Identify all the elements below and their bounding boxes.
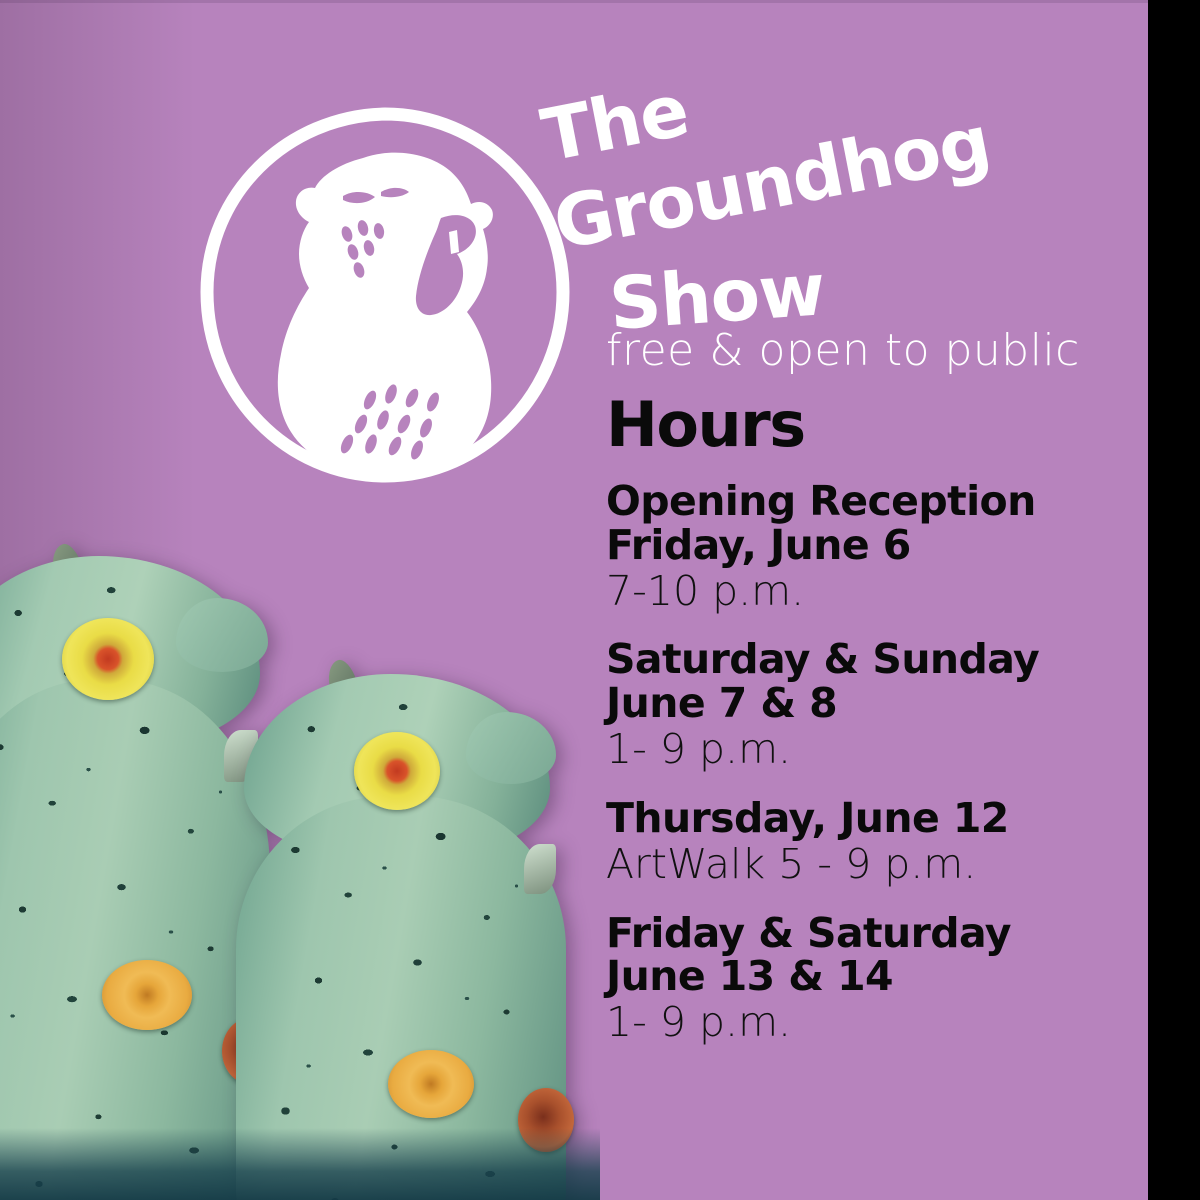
title-line-1: The — [536, 73, 693, 172]
schedule-time: ArtWalk 5 - 9 p.m. — [606, 841, 1126, 888]
top-hairline — [0, 0, 1148, 3]
hours-heading: Hours — [606, 394, 805, 456]
schedule-title: Friday & Saturday — [606, 912, 1126, 956]
poster-title: The Groundhog Show — [540, 78, 1140, 328]
schedule-date: June 13 & 14 — [606, 955, 1126, 999]
sculpture-spike-icon — [524, 844, 556, 894]
logo-groundhog-silhouette — [278, 153, 493, 477]
schedule-title: Thursday, June 12 — [606, 797, 1126, 841]
schedule-entry: Friday & Saturday June 13 & 14 1- 9 p.m. — [606, 912, 1126, 1046]
sculpture-snout — [466, 712, 556, 784]
right-black-bar — [1148, 0, 1200, 1200]
schedule-list: Opening Reception Friday, June 6 7-10 p.… — [606, 480, 1126, 1046]
photo-ground-shadow — [0, 1128, 600, 1200]
sculpture-right — [236, 590, 566, 1200]
schedule-time: 1- 9 p.m. — [606, 999, 1126, 1046]
schedule-time: 7-10 p.m. — [606, 568, 1126, 615]
tagline: free & open to public — [606, 329, 1080, 373]
schedule-entry: Opening Reception Friday, June 6 7-10 p.… — [606, 480, 1126, 614]
rosette-orange-icon — [388, 1050, 474, 1118]
schedule-title: Opening Reception — [606, 480, 1126, 524]
rosette-orange-icon — [102, 960, 192, 1030]
groundhog-logo — [195, 100, 575, 490]
sculpture-left — [0, 530, 270, 1200]
schedule-date: June 7 & 8 — [606, 682, 1126, 726]
schedule-title: Saturday & Sunday — [606, 638, 1126, 682]
schedule-time: 1- 9 p.m. — [606, 726, 1126, 773]
rosette-yellow-icon — [62, 618, 154, 700]
schedule-entry: Thursday, June 12 ArtWalk 5 - 9 p.m. — [606, 797, 1126, 888]
schedule-date: Friday, June 6 — [606, 524, 1126, 568]
groundhog-sculptures-photo — [0, 480, 600, 1200]
poster-canvas: The Groundhog Show free & open to public… — [0, 0, 1200, 1200]
schedule-entry: Saturday & Sunday June 7 & 8 1- 9 p.m. — [606, 638, 1126, 772]
rosette-yellow-icon — [354, 732, 440, 810]
